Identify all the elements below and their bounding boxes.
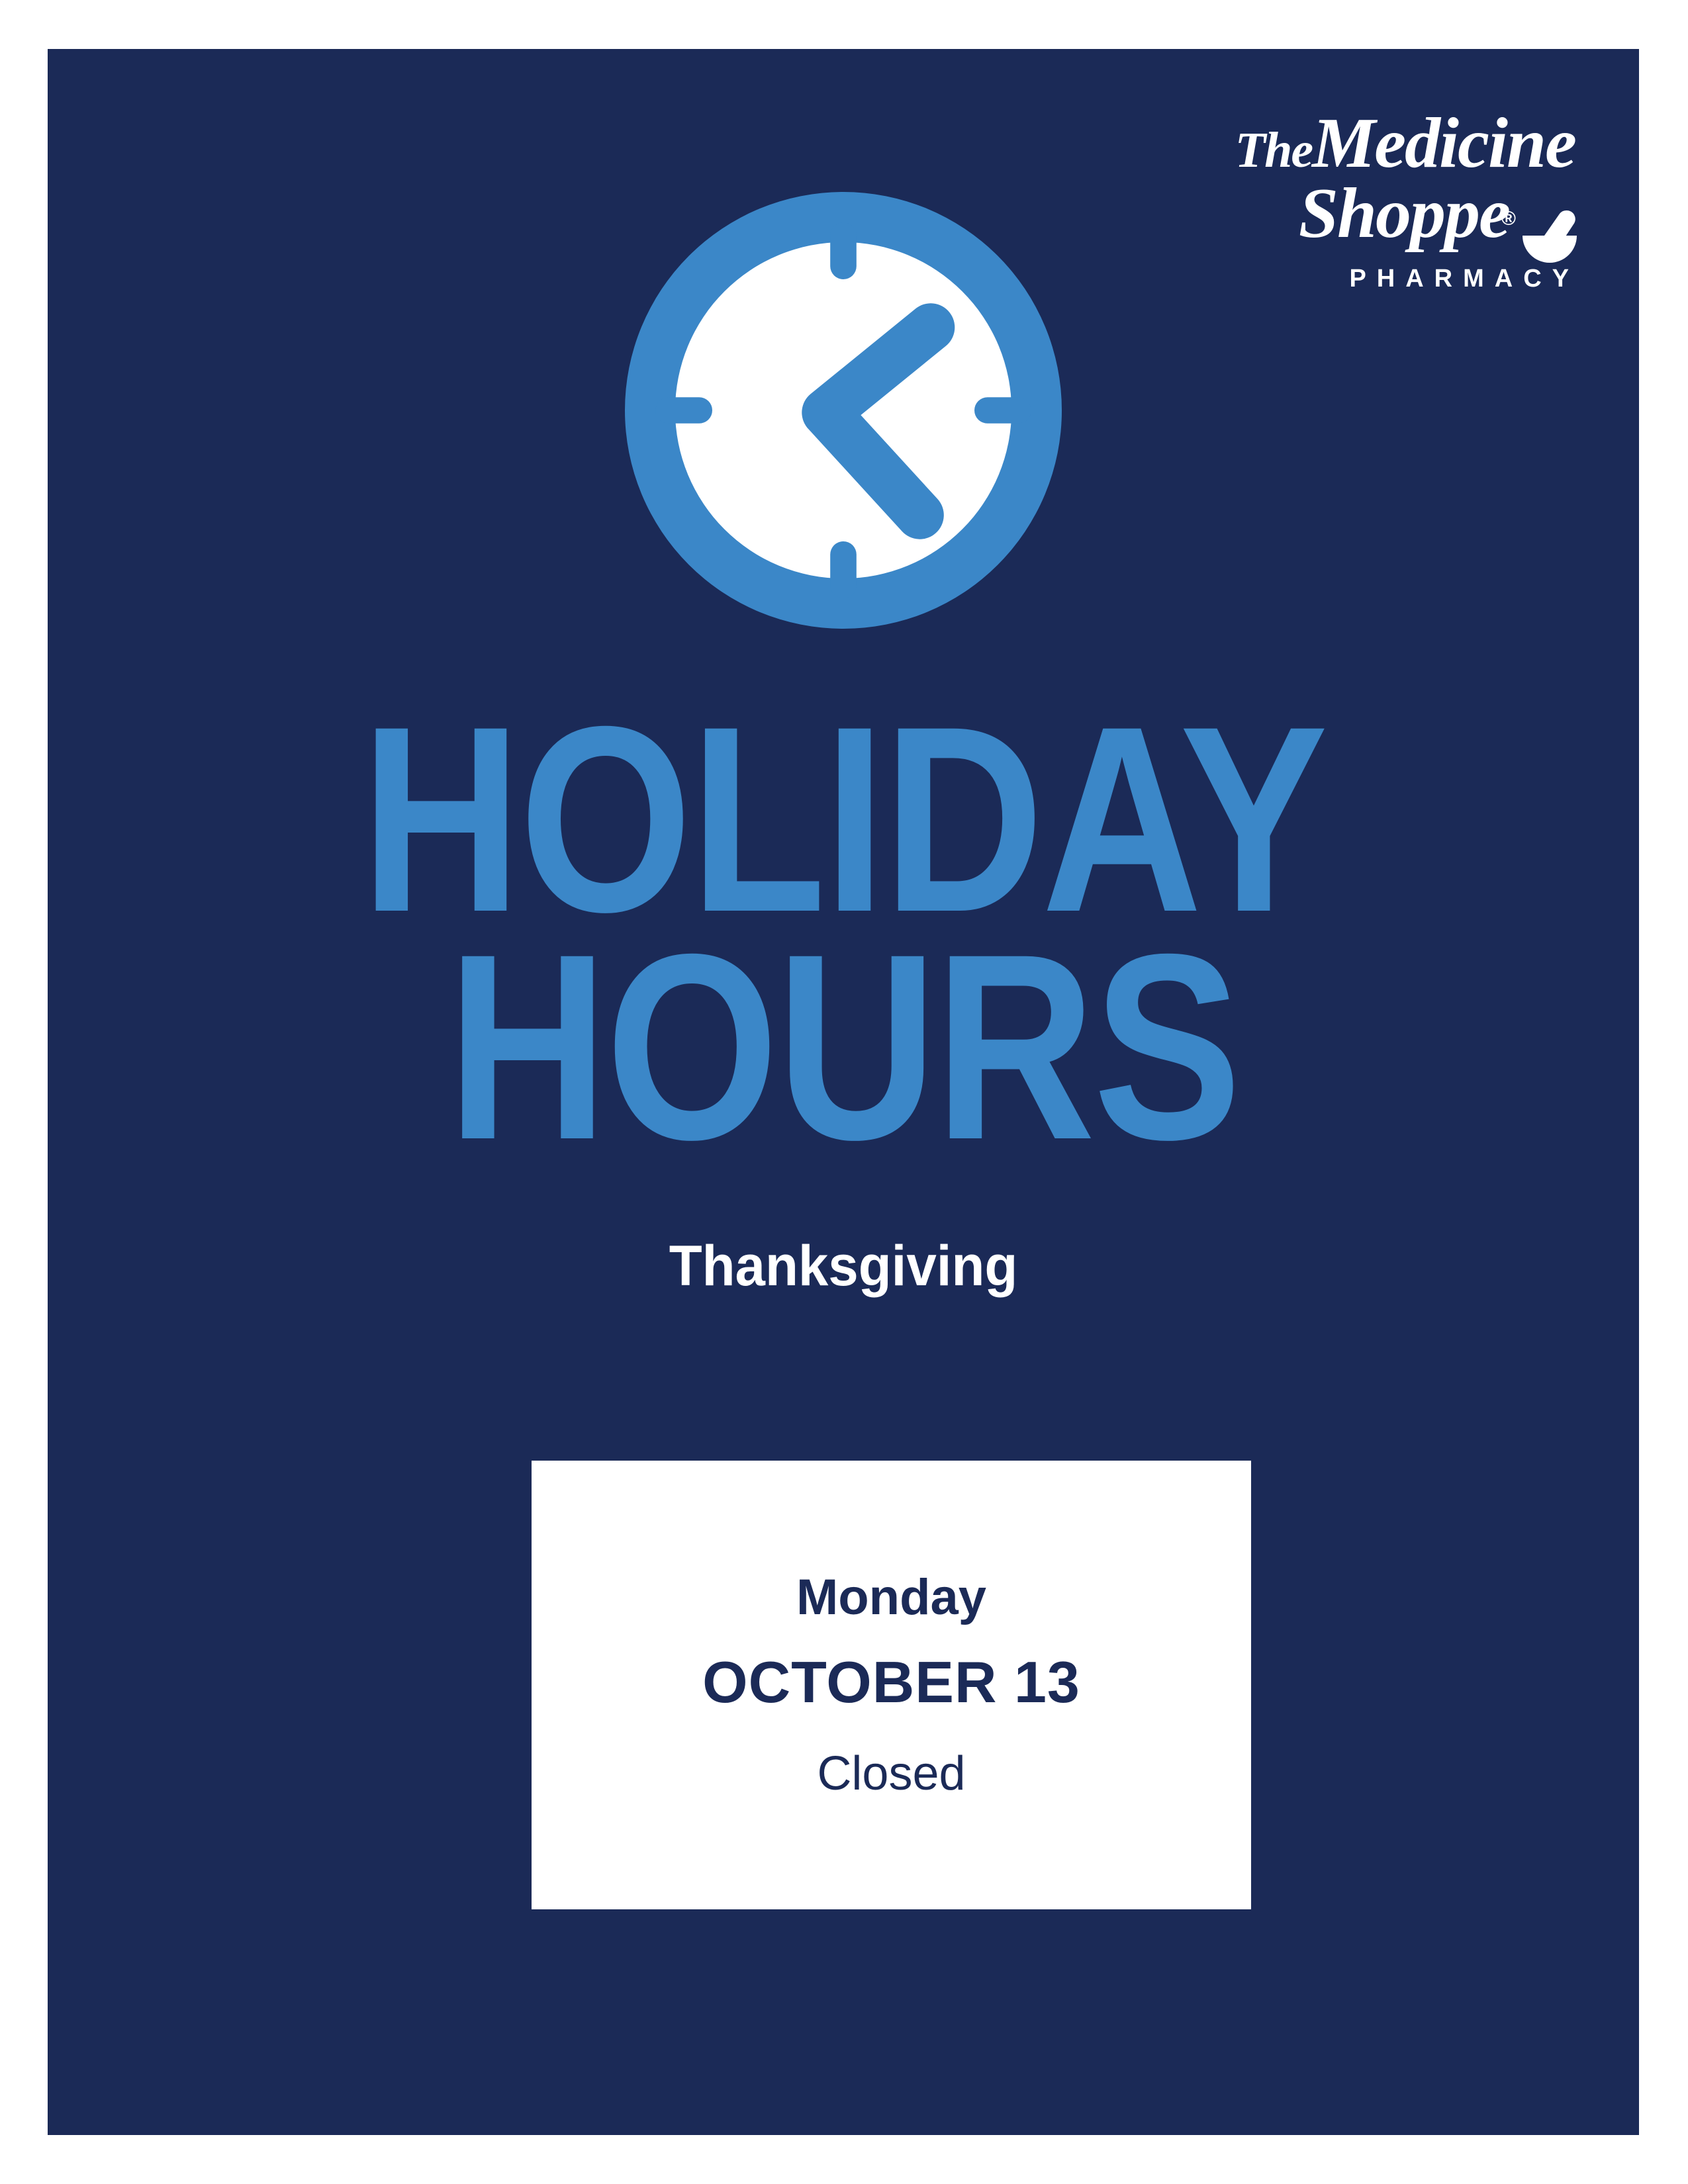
clock-icon — [625, 192, 1062, 629]
brand-tagline: PHARMACY — [1143, 265, 1583, 293]
hours-day-of-week: Monday — [796, 1572, 986, 1623]
brand-medicine: Medicine — [1312, 104, 1575, 183]
brand-logo: TheMedicine Shoppe ® PHARMACY — [1143, 109, 1579, 307]
poster-panel: TheMedicine Shoppe ® PHARMACY — [48, 49, 1639, 2135]
hours-detail-card: Monday OCTOBER 13 Closed — [532, 1461, 1251, 1909]
holiday-name: Thanksgiving — [87, 1234, 1599, 1299]
mortar-and-pestle-icon — [1519, 206, 1579, 270]
headline-line-2: HOURS — [175, 933, 1511, 1161]
hours-date: OCTOBER 13 — [702, 1653, 1080, 1711]
registered-mark-icon: ® — [1501, 208, 1516, 230]
brand-the: The — [1235, 122, 1312, 178]
page-title: HOLIDAY HOURS — [48, 705, 1639, 1161]
hours-status: Closed — [817, 1750, 965, 1797]
poster-page: TheMedicine Shoppe ® PHARMACY — [0, 0, 1688, 2184]
brand-line-medicine: TheMedicine — [1143, 109, 1579, 179]
